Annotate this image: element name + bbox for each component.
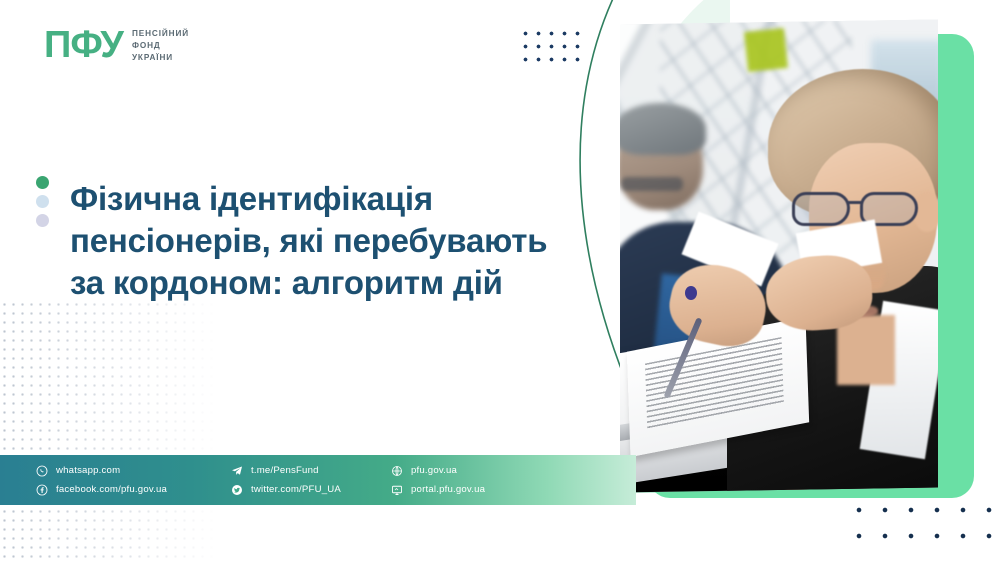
contact-footer-bar: whatsapp.com facebook.com/pfu.gov.ua — [0, 455, 636, 505]
footer-link-whatsapp[interactable]: whatsapp.com — [36, 465, 231, 477]
headline-line-1: Фізична ідентифікація — [70, 178, 590, 220]
footer-link-twitter[interactable]: twitter.com/PFU_UA — [231, 484, 391, 496]
hero-photo — [620, 20, 938, 493]
footer-link-label: twitter.com/PFU_UA — [251, 484, 341, 495]
footer-column-messengers: t.me/PensFund twitter.com/PFU_UA — [231, 465, 391, 496]
glasses-lens-left — [792, 192, 850, 226]
logo-word-line-3: УКРАЇНИ — [132, 53, 189, 63]
footer-link-label: portal.pfu.gov.ua — [411, 484, 485, 495]
background-person-hair — [620, 103, 706, 155]
hero-photo-scene — [620, 20, 938, 493]
headline-line-2: пенсіонерів, які перебувають — [70, 220, 590, 262]
logo-monogram: ПФУ — [44, 26, 123, 64]
background-person-glasses — [621, 177, 683, 191]
globe-icon — [391, 465, 403, 477]
bullet-dot-blue — [36, 195, 49, 208]
document-text-lines — [645, 336, 783, 430]
telegram-icon — [231, 465, 243, 477]
footer-link-website[interactable]: pfu.gov.ua — [391, 465, 551, 477]
sticky-note — [744, 28, 788, 72]
footer-link-label: t.me/PensFund — [251, 465, 319, 476]
logo-wordmark: ПЕНСІЙНИЙ ФОНД УКРАЇНИ — [132, 27, 189, 62]
bullet-dot-lavender — [36, 214, 49, 227]
bullet-dot-green — [36, 176, 49, 189]
footer-link-label: whatsapp.com — [56, 465, 120, 476]
twitter-icon — [231, 484, 243, 496]
page-title: Фізична ідентифікація пенсіонерів, які п… — [70, 178, 590, 305]
logo-word-line-2: ФОНД — [132, 41, 189, 51]
facebook-icon — [36, 484, 48, 496]
footer-link-telegram[interactable]: t.me/PensFund — [231, 465, 391, 477]
footer-link-label: pfu.gov.ua — [411, 465, 457, 476]
dot-grid-bottom-right — [846, 497, 1000, 559]
footer-column-web: pfu.gov.ua portal.pfu.gov.ua — [391, 465, 551, 496]
footer-link-portal[interactable]: portal.pfu.gov.ua — [391, 484, 551, 496]
footer-link-label: facebook.com/pfu.gov.ua — [56, 484, 167, 495]
whatsapp-icon — [36, 465, 48, 477]
portal-screen-icon — [391, 484, 403, 496]
headline-bullet-dots — [36, 176, 49, 227]
pen-cap — [685, 286, 697, 300]
pfu-logo: ПФУ ПЕНСІЙНИЙ ФОНД УКРАЇНИ — [44, 26, 189, 64]
footer-column-social: whatsapp.com facebook.com/pfu.gov.ua — [36, 465, 231, 496]
logo-word-line-1: ПЕНСІЙНИЙ — [132, 29, 189, 39]
footer-link-facebook[interactable]: facebook.com/pfu.gov.ua — [36, 484, 231, 496]
dot-grid-top — [519, 27, 581, 63]
halftone-dot-pattern — [0, 300, 250, 562]
slide-canvas: ПФУ ПЕНСІЙНИЙ ФОНД УКРАЇНИ Фізична ідент… — [0, 0, 1000, 562]
headline-line-3: за кордоном: алгоритм дій — [70, 262, 590, 304]
